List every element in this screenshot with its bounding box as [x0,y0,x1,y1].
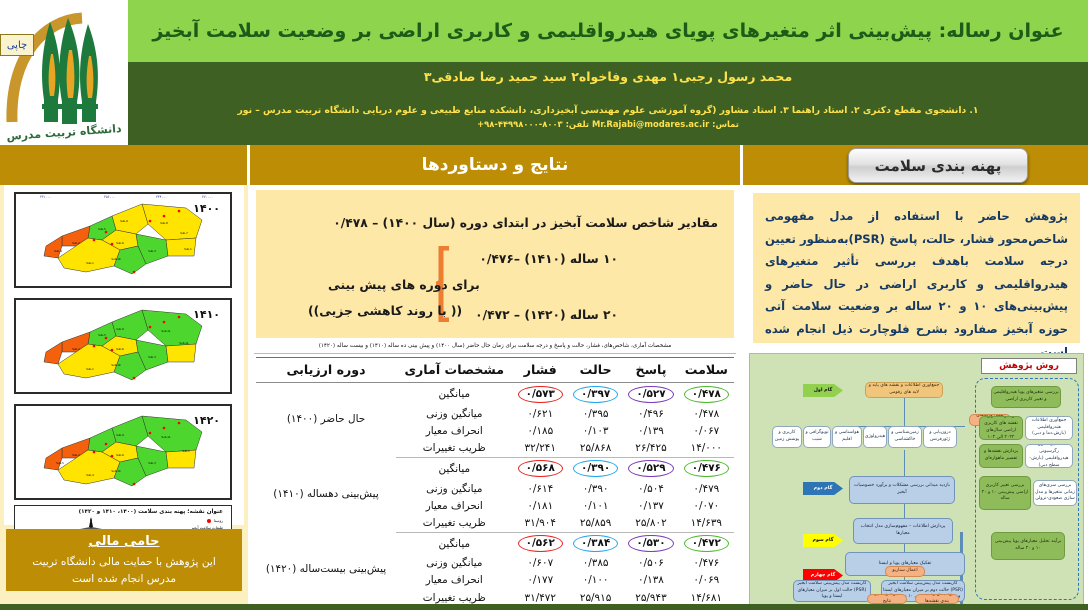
cell-stat-label: میانگین [396,383,513,406]
svg-text:Sub-8: Sub-8 [160,221,168,225]
cell-pasokh: ۰/۵۳۰ [623,532,678,555]
legend-item-village: روستا [207,518,223,523]
svg-text:Sub-1: Sub-1 [86,367,94,371]
cell-stat-label: ظریب تغییرات [396,514,513,532]
svg-text:Sub-3: Sub-3 [148,461,156,465]
col-header-halat: حالت [568,358,623,383]
cell-fishar: ۰/۱۸۵ [513,422,568,439]
cell-stat-label: ظریب تغییرات [396,440,513,458]
cell-pasokh: ۰/۴۹۶ [623,405,678,422]
flow-node-interpolation: درون‌یابی و ژئورفرنس [923,426,957,448]
highlight-oval: ۰/۴۷۶ [684,460,729,477]
cell-halat: ۰/۳۸۵ [568,555,623,572]
print-tag[interactable]: چاپی [0,34,34,56]
svg-text:Sub-6: Sub-6 [116,347,124,351]
sponsor-text: این پژوهش با حمایت مالی دانشگاه تربیت مد… [6,554,242,588]
cell-fishar: ۳۱/۹۰۴ [513,514,568,532]
cell-pasokh: ۰/۱۳۸ [623,572,678,589]
cell-fishar: ۰/۶۱۴ [513,480,568,497]
map-1400[interactable]: ۱۴۰۰ Sub-8Sub-7 Sub-9Sub-5 [14,192,232,288]
cell-halat: ۰/۳۹۷ [568,383,623,406]
flow-node-topography: توپوگرافی و شیب [803,426,831,448]
cell-halat: ۰/۱۰۳ [568,422,623,439]
svg-text:N: N [90,518,93,522]
poster-header: عنوان رساله: پیش‌بینی اثر متغیرهای پویای… [0,0,1088,145]
cell-stat-label: میانگین وزنی [396,480,513,497]
map-year-label: ۱۴۰۰ [193,202,220,215]
svg-text:Sub-10: Sub-10 [111,469,121,473]
cell-salamat: ۰/۴۷۸ [679,383,734,406]
method-text-part2: )به‌منظور تعیین درجه سلامت باهدف بررسی ت… [765,232,1068,359]
table-caption: مشخصات آماری، شاخص‌های، فشار، حالت و پاس… [254,343,736,354]
cell-halat: ۰/۱۰۱ [568,497,623,514]
method-paragraph: پژوهش حاضر با استفاده از مدل مفهومی شاخص… [753,193,1080,343]
university-logo: دانشگاه تربیت مدرس [0,0,128,145]
page-title: عنوان رساله: پیش‌بینی اثر متغیرهای پویای… [128,0,1088,62]
cell-halat: ۰/۳۸۴ [568,532,623,555]
table-header-row: سلامت پاسخ حالت فشار مشخصات آماری دوره ا… [256,358,734,383]
flow-node-meteorology: هواشناسی و اقلیم [832,426,862,448]
svg-text:Sub-10: Sub-10 [111,257,121,261]
cell-pasokh: ۰/۵۰۶ [623,555,678,572]
map-x-tick: ۳۴۴۰۰۰ [156,195,167,199]
cell-salamat: ۰/۰۷۰ [679,497,734,514]
cell-stat-label: انحراف معیار [396,422,513,439]
psr-abbreviation: PSR [854,232,880,246]
highlight-oval: ۰/۵۳۰ [628,535,673,552]
cell-fishar: ۰/۵۶۸ [513,457,568,480]
cell-pasokh: ۲۶/۴۲۵ [623,440,678,458]
side-node-hydroclim-data: جمع‌آوری اطلاعات هیدرواقلیمی (بارش،دما و… [1025,416,1073,440]
flow-step-1: گام اول [803,384,843,397]
village-dot-icon [207,519,211,523]
svg-text:Sub-5: Sub-5 [98,227,106,231]
svg-text:Sub-2: Sub-2 [72,347,80,351]
svg-text:Sub-5: Sub-5 [56,461,64,465]
cell-period: پیش‌بینی بیست‌ساله (۱۴۲۰) [256,532,396,607]
flow-node-field-visit: بازدید میدانی بررسی مشکلات و برآورد خصوص… [849,476,955,504]
svg-text:Sub-11: Sub-11 [161,329,171,333]
cell-pasokh: ۰/۵۲۷ [623,383,678,406]
flow-step-2: گام دوم [803,482,843,495]
map-1410[interactable]: ۱۴۱۰ Sub-11Sub-11 Sub-9Sub-5 [14,298,232,394]
author-list: محمد رسول رجبی۱ مهدی وفاخواه۲ سید حمید ر… [128,62,1088,90]
cell-stat-label: انحراف معیار [396,497,513,514]
cell-fishar: ۰/۶۲۱ [513,405,568,422]
table-row: ۰/۴۷۸۰/۵۲۷۰/۳۹۷۰/۵۷۳میانگینحال حاضر (۱۴۰… [256,383,734,406]
map-x-tick: ۳۳۱۰۰۰ [40,195,51,199]
cell-pasokh: ۰/۵۰۴ [623,480,678,497]
logo-mark [4,4,126,134]
flow-node-analysis: تجزیه و تحلیل نتایج [867,594,907,604]
highlight-oval: ۰/۴۷۸ [684,386,729,403]
map-x-tick: ۳۷۰۰۰۰ [202,195,213,199]
legend-title: عنوان نقشه؛ پهنه بندی سلامت (۱۴۰۰، ۱۴۱۰ … [79,509,223,515]
svg-text:Sub-9: Sub-9 [120,219,128,223]
table-row: ۰/۴۷۶۰/۵۲۹۰/۳۹۰۰/۵۶۸میانگینپیش‌بینی دهسا… [256,457,734,480]
map-x-tick: ۳۵۶۰۰۰ [104,195,115,199]
svg-text:Sub-1: Sub-1 [182,449,190,453]
cell-salamat: ۱۴/۰۰۰ [679,440,734,458]
svg-text:Sub-6: Sub-6 [116,241,124,245]
result-forecast-note: برای دوره های پیش بینی [328,278,480,292]
sponsor-box: حامی مالی این پژوهش با حمایت مالی دانشگا… [6,529,242,591]
side-node-landuse-forecast: بررسی تغییر کاربری اراضی پیش‌بینی ۱۰ و ۲… [979,476,1031,510]
flow-node-processing: پردازش اطلاعات – مفهوم‌سازی مدل انتخاب م… [853,518,953,544]
svg-text:Sub-3: Sub-3 [148,355,156,359]
svg-text:Sub-4: Sub-4 [54,249,62,253]
poster-root: عنوان رساله: پیش‌بینی اثر متغیرهای پویای… [0,0,1088,610]
cell-pasokh: ۰/۵۲۹ [623,457,678,480]
cell-salamat: ۰/۰۶۹ [679,572,734,589]
cell-salamat: ۰/۴۷۶ [679,457,734,480]
affiliation-line: ۱. دانشجوی مقطع دکتری ۲. استاد راهنما ۳.… [238,104,979,118]
flow-step-3: گام سوم [803,534,843,547]
svg-text:Sub-1: Sub-1 [184,247,192,251]
flow-node-hydrology: هیدرولوژی [863,426,887,448]
cell-period: حال حاضر (۱۴۰۰) [256,383,396,458]
cell-stat-label: میانگین [396,532,513,555]
side-node-dynamic-vars: بررسی متغیرهای پویا هیدرواقلیمی و تغییر … [991,386,1061,408]
cell-fishar: ۰/۵۶۲ [513,532,568,555]
cell-stat-label: انحراف معیار [396,572,513,589]
statistics-table: سلامت پاسخ حالت فشار مشخصات آماری دوره ا… [256,357,734,607]
side-node-regression: تحلیل آماری رگرسیونی هیدرواقلیمی (بارش-س… [1025,444,1073,468]
cell-period: پیش‌بینی دهساله (۱۴۱۰) [256,457,396,532]
contact-email[interactable]: Mr.Rajabi@modares.ac.ir [592,119,709,129]
highlight-oval: ۰/۵۶۸ [518,460,563,477]
side-node-landuse-maps: تهیه و استخراج نقشه های کاربری اراضی سال… [979,416,1023,440]
flow-connector [904,450,905,476]
cell-fishar: ۰/۱۷۷ [513,572,568,589]
highlight-oval: ۰/۳۹۰ [573,460,618,477]
flow-node-data-collection: جمع‌آوری اطلاعات و نقشه های پایه و لایه … [865,382,943,398]
highlight-oval: ۰/۵۲۹ [628,460,673,477]
col-header-salamat: سلامت [679,358,734,383]
contact-line: تماس: Mr.Rajabi@modares.ac.ir تلفن: ۸۰۰۳… [477,118,739,131]
cell-fishar: ۰/۵۷۳ [513,383,568,406]
legend-label: روستا [214,518,223,523]
result-trend-note: (( با روند کاهشی جزیی)) [308,304,462,318]
cell-halat: ۰/۱۰۰ [568,572,623,589]
cell-halat: ۰/۳۹۰ [568,480,623,497]
svg-text:Sub-1: Sub-1 [86,261,94,265]
highlight-oval: ۰/۵۷۳ [518,386,563,403]
svg-text:Sub-4: Sub-4 [86,473,94,477]
svg-text:Sub-10: Sub-10 [111,363,121,367]
cell-pasokh: ۰/۱۳۷ [623,497,678,514]
map-1420[interactable]: ۱۴۲۰ Sub-11Sub-1 Sub-9Sub-6 [14,404,232,500]
cell-salamat: ۰/۴۷۶ [679,555,734,572]
cell-fishar: ۳۲/۲۴۱ [513,440,568,458]
side-node-timeseries: بررسی سری‌های زمانی متغیرها و مدل سازی ص… [1033,480,1077,506]
highlight-oval: ۰/۳۹۷ [573,386,618,403]
cell-halat: ۲۵/۸۵۹ [568,514,623,532]
method-flowchart: روش پژوهش گام اول گام دوم گام سوم گام چه… [749,353,1084,605]
column-results: مقادیر شاخص سلامت آبخیز در ابتدای دوره (… [250,185,740,610]
highlight-oval: ۰/۵۲۷ [628,386,673,403]
side-node-map-processing: پردازش نقشه‌ها و تفسیر ماهواره‌ای [979,444,1023,468]
svg-text:Sub-11: Sub-11 [179,341,189,345]
cell-salamat: ۱۴/۶۳۹ [679,514,734,532]
col-header-pasokh: پاسخ [623,358,678,383]
section-title-results: نتایج و دستاوردها [250,145,740,185]
result-baseline-value: مقادیر شاخص سلامت آبخیز در ابتدای دوره (… [333,216,718,230]
flow-node-geology: زمین‌شناسی و خاکشناسی [888,426,922,448]
highlight-oval: ۰/۵۶۲ [518,535,563,552]
highlight-oval: ۰/۴۷۲ [684,535,729,552]
flow-node-zoning: پهنه‌بندی و طبقه بندی نقشه‌ها [915,594,959,604]
result-20year-value: ۲۰ ساله (۱۴۲۰) – ۰/۴۷۲ [475,308,618,322]
svg-text:Sub-9: Sub-9 [116,327,124,331]
cell-stat-label: میانگین وزنی [396,555,513,572]
svg-text:Sub-9: Sub-9 [116,433,124,437]
cell-salamat: ۰/۴۷۹ [679,480,734,497]
cell-halat: ۰/۳۹۵ [568,405,623,422]
map-year-label: ۱۴۱۰ [193,308,220,321]
svg-text:Sub-5: Sub-5 [98,333,106,337]
col-header-period: دوره ارزیابی [256,358,396,383]
flow-connector [904,398,905,426]
cell-fishar: ۰/۱۸۱ [513,497,568,514]
column-method: پژوهش حاضر با استفاده از مدل مفهومی شاخص… [745,185,1088,610]
svg-text:Sub-2: Sub-2 [72,241,80,245]
col-header-stat: مشخصات آماری [396,358,513,383]
flow-connector [904,504,905,518]
affiliation-block: ۱. دانشجوی مقطع دکتری ۲. استاد راهنما ۳.… [128,90,1088,145]
col-header-fishar: فشار [513,358,568,383]
svg-text:Sub-7: Sub-7 [180,231,188,235]
flow-node-scenario: اعمال سناریو [885,566,925,577]
side-node-dynamic-result: برآیند تحلیل معیارهای پویا پیش‌بینی ۱۰ و… [991,532,1065,560]
svg-text:Sub-6: Sub-6 [116,453,124,457]
cell-pasokh: ۲۵/۸۰۲ [623,514,678,532]
cell-stat-label: میانگین وزنی [396,405,513,422]
flow-node-psr-case1: کاربست مدل پیش‌بینی سلامت آبخیز (PSR) حا… [793,580,871,602]
poster-footer [0,604,1088,610]
sponsor-title: حامی مالی [6,534,242,549]
map-year-label: ۱۴۲۰ [193,414,220,427]
cell-stat-label: میانگین [396,457,513,480]
cell-fishar: ۰/۶۰۷ [513,555,568,572]
contact-label: تماس: [709,119,739,129]
maps-container: ۱۴۰۰ Sub-8Sub-7 Sub-9Sub-5 [4,185,244,525]
cell-salamat: ۰/۰۶۷ [679,422,734,439]
section-title-zoning: پهنه بندی سلامت [848,148,1028,183]
svg-text:Sub-3: Sub-3 [148,249,156,253]
column-divider-right [740,145,743,610]
cell-pasokh: ۰/۱۳۹ [623,422,678,439]
flowchart-title: روش پژوهش [981,358,1077,374]
cell-halat: ۰/۳۹۰ [568,457,623,480]
cell-salamat: ۰/۴۷۲ [679,532,734,555]
svg-text:Sub-11: Sub-11 [161,435,171,439]
svg-text:Sub-2: Sub-2 [72,453,80,457]
flow-node-landuse: کاربری و پوشش زمین [772,426,802,448]
highlight-oval: ۰/۳۸۴ [573,535,618,552]
contact-phone: تلفن: ۸۰۰۳-۴۴۹۹۸۰۰۰-۹۸+ [477,119,592,129]
table-body: ۰/۴۷۸۰/۵۲۷۰/۳۹۷۰/۵۷۳میانگینحال حاضر (۱۴۰… [256,383,734,607]
table-row: ۰/۴۷۲۰/۵۳۰۰/۳۸۴۰/۵۶۲میانگینپیش‌بینی بیست… [256,532,734,555]
cell-salamat: ۰/۴۷۸ [679,405,734,422]
results-summary-box: مقادیر شاخص سلامت آبخیز در ابتدای دوره (… [256,190,734,338]
column-zoning: ۱۴۰۰ Sub-8Sub-7 Sub-9Sub-5 [0,185,248,610]
cell-halat: ۲۵/۸۶۸ [568,440,623,458]
result-10year-value: ۱۰ ساله (۱۴۱۰) –۰/۴۷۶ [479,252,618,266]
